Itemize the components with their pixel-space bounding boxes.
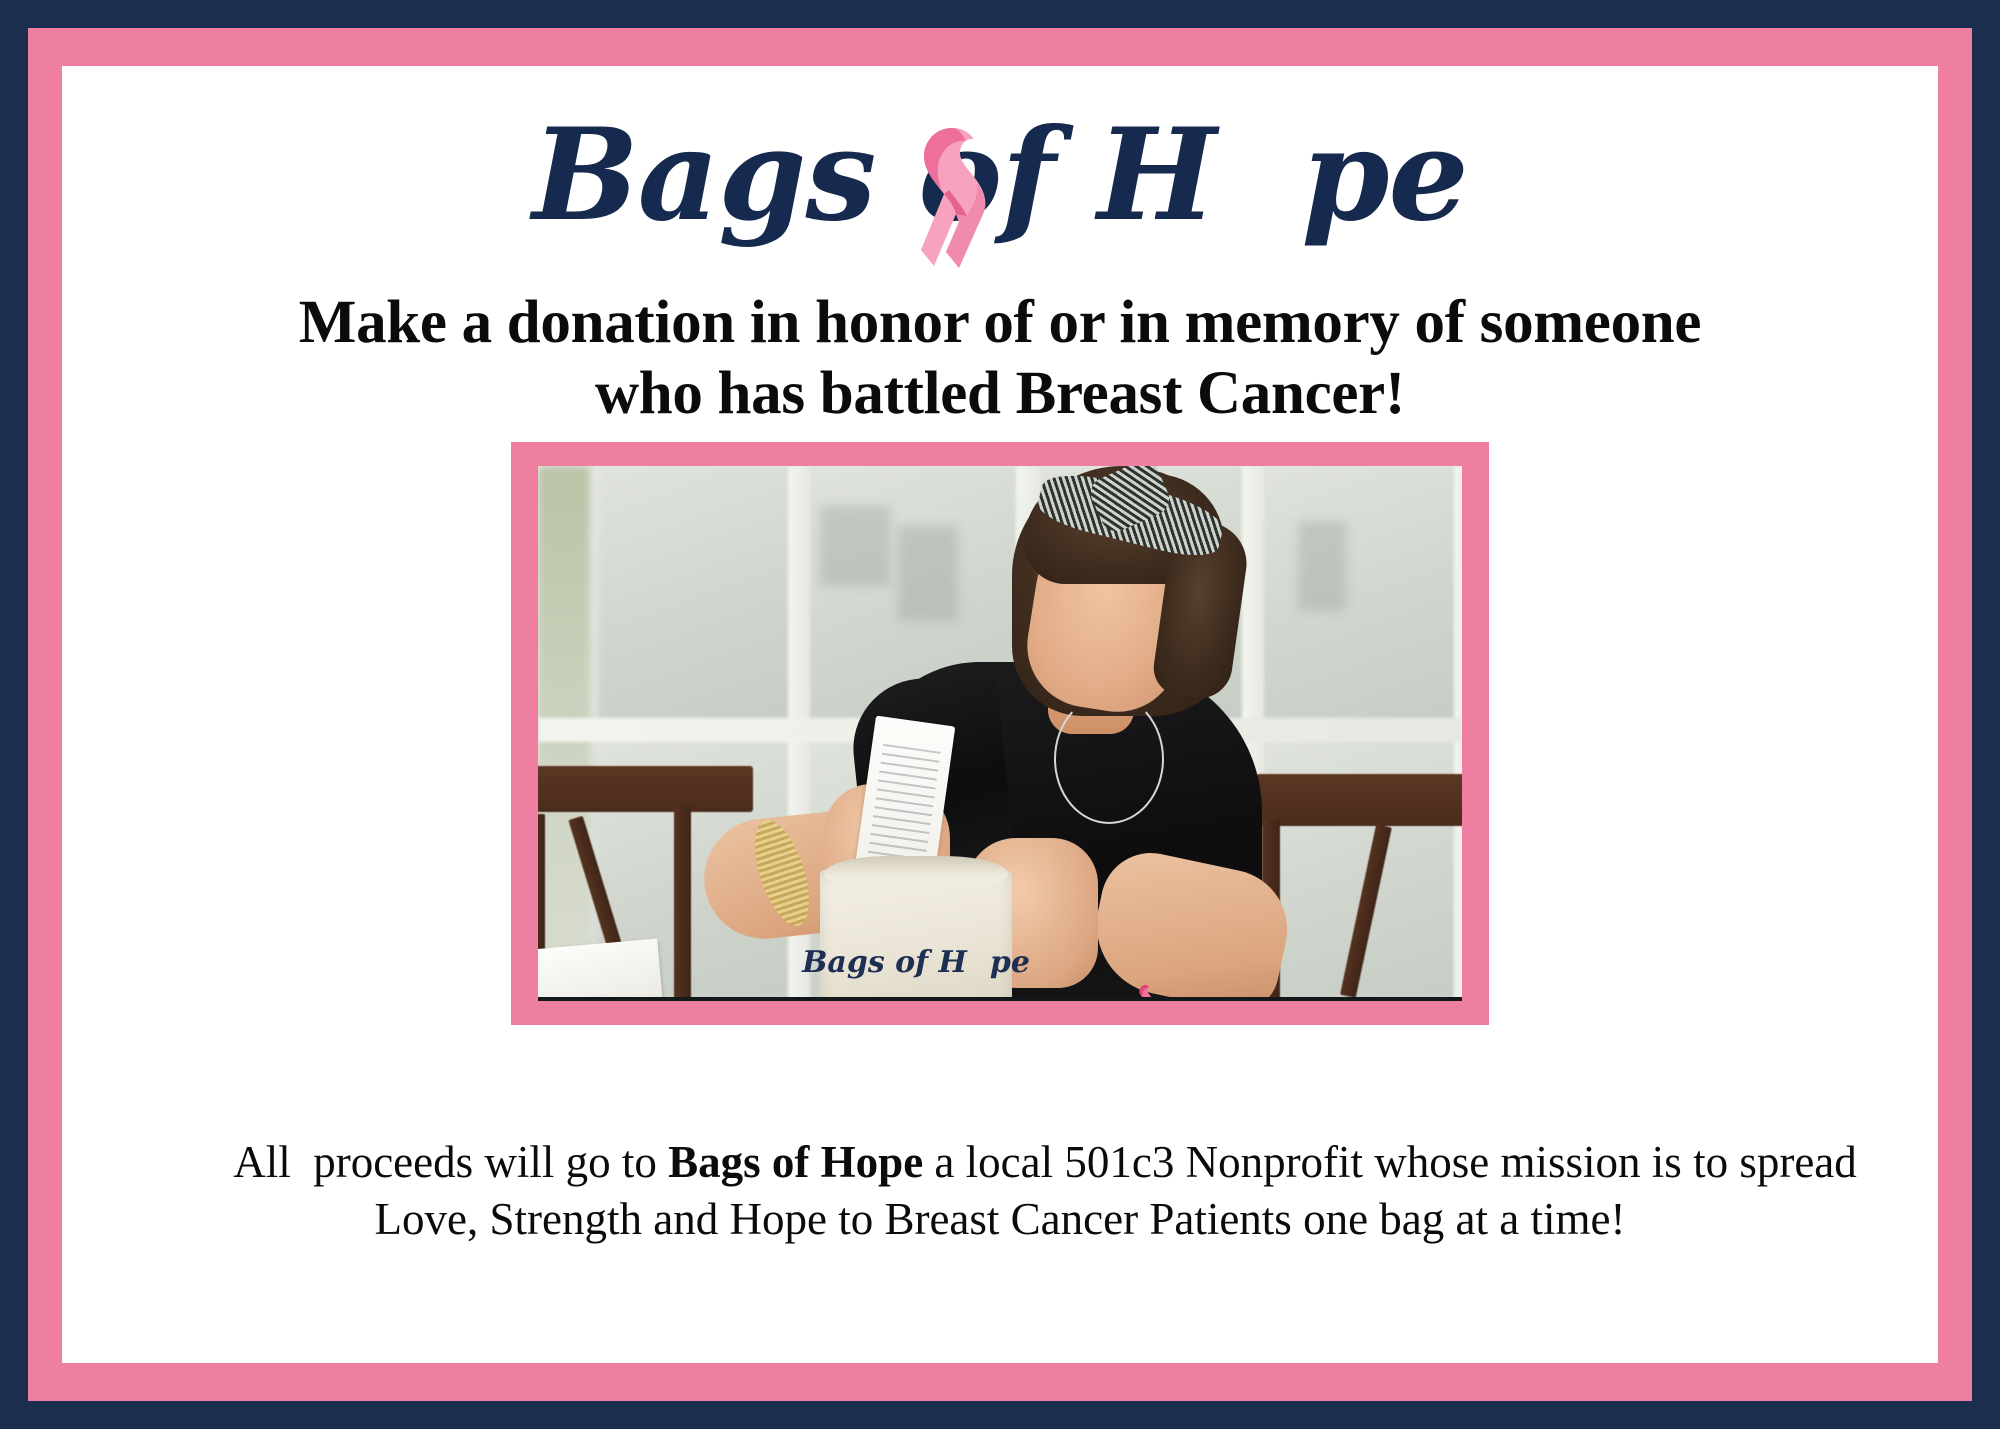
donation-photo: Bags of H pe	[538, 466, 1462, 1001]
brand-logo-text-after: pe	[1301, 80, 1467, 270]
pink-awareness-ribbon-icon	[968, 953, 989, 987]
footer-brand-name: Bags of Hope	[668, 1137, 923, 1187]
photo-tote-bag-opening	[824, 856, 1008, 892]
headline-line-2: who has battled Breast Cancer!	[102, 359, 1898, 430]
headline: Make a donation in honor of or in memory…	[102, 288, 1898, 430]
tote-logo-text-after: pe	[990, 948, 1030, 978]
photo-tote-bag: Bags of H pe	[820, 870, 1012, 1001]
photo-foreground-paper	[538, 939, 662, 1001]
photo-pink-frame: Bags of H pe	[511, 442, 1489, 1025]
tote-logo-text-before: Bags of H	[802, 948, 967, 978]
flyer-pink-border: Bags of H pe Make a donation i	[28, 28, 1972, 1401]
photo-woman-necklace	[1054, 694, 1164, 824]
footer-text-part-1: All proceeds will go to	[233, 1137, 668, 1187]
flyer-outer-navy-border: Bags of H pe Make a donation i	[0, 0, 2000, 1429]
headline-line-1: Make a donation in honor of or in memory…	[102, 288, 1898, 359]
brand-logo: Bags of H pe	[62, 80, 1938, 285]
flyer-content-area: Bags of H pe Make a donation i	[62, 66, 1938, 1363]
brand-logo-text-before: Bags of H	[532, 80, 1215, 270]
footer-paragraph: All proceeds will go to Bags of Hope a l…	[92, 1076, 1908, 1306]
brand-logo-inner: Bags of H pe	[532, 80, 1467, 285]
pink-awareness-ribbon-icon	[904, 122, 1000, 272]
photo-tote-bag-logo: Bags of H pe	[820, 948, 1012, 982]
